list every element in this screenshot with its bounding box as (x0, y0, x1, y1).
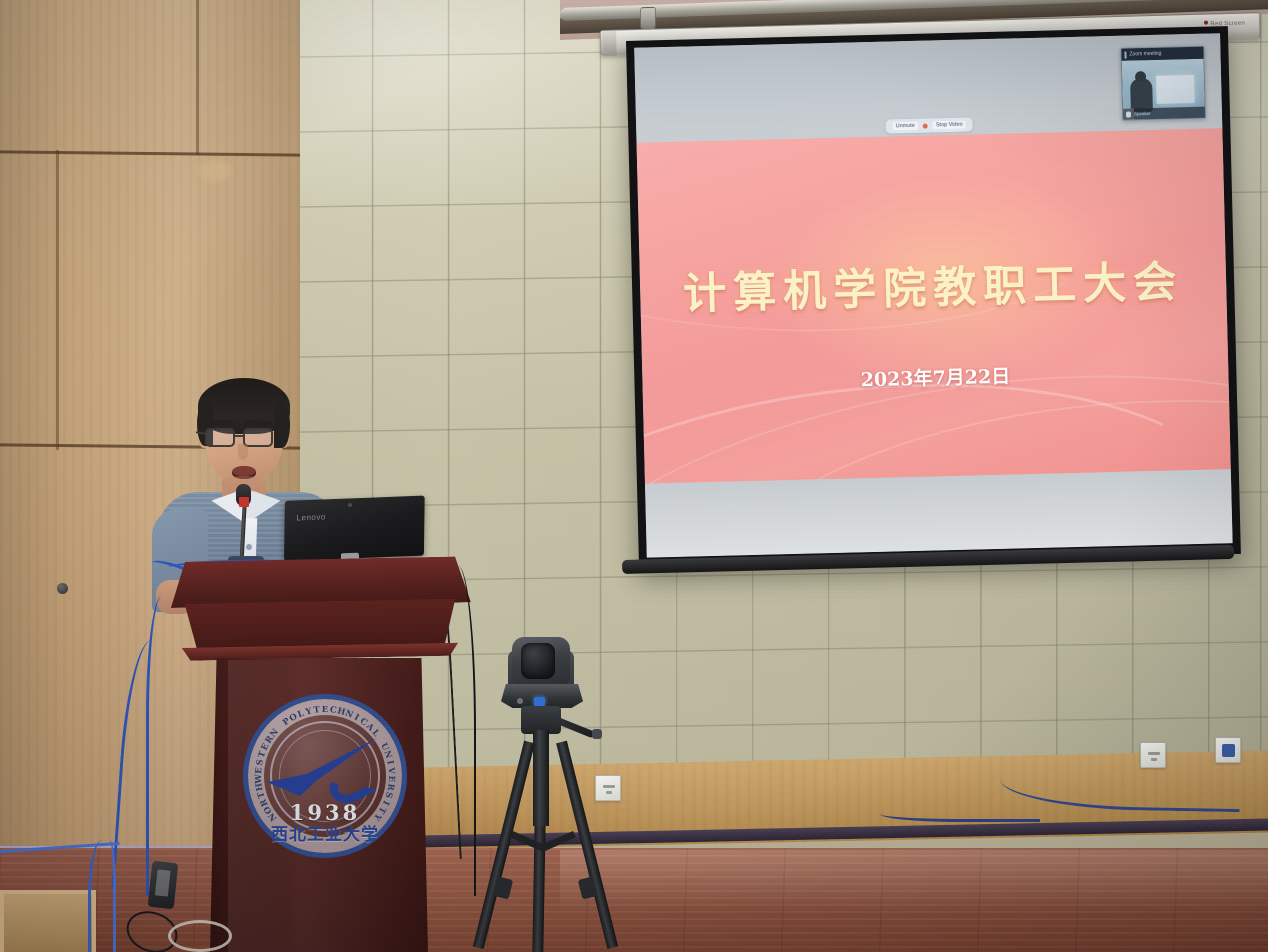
eyeglasses-bridge (235, 435, 243, 437)
tripod-center-column (533, 730, 549, 826)
microphone-logo-flag (239, 497, 249, 507)
slide-letterbox-bottom (645, 469, 1233, 557)
speaker-hair-side (274, 402, 290, 448)
wooden-crate (0, 890, 96, 952)
emblem-arc-letter: I (384, 760, 395, 766)
thumbnail-remote-screen (1156, 75, 1195, 104)
power-cable (440, 566, 476, 896)
zoom-unmute-button[interactable]: Unmute (893, 122, 918, 131)
photograph-scene: Red Screen 计算机学院教职工大会 2023年7月22日 Unmute … (0, 0, 1268, 952)
outlet-slot-icon (606, 791, 612, 794)
university-emblem: NORTHWESTERN POLYTECHNICAL UNIVERSITY 19… (243, 694, 407, 858)
network-cable (880, 806, 1040, 822)
thumbnail-header: Zoom meeting (1121, 47, 1203, 61)
adapter-label (155, 869, 171, 896)
tripod-handle-knob[interactable] (592, 729, 602, 739)
rail-clip (640, 7, 656, 30)
emblem-arc-letter: T (313, 705, 321, 716)
power-adapter-brick (148, 861, 179, 909)
thumbnail-participant-name: Zoom meeting (1129, 51, 1161, 58)
wall-outlet[interactable] (595, 775, 621, 801)
recording-indicator-icon (923, 123, 928, 128)
participant-video-thumbnail[interactable]: Zoom meeting Speaker (1120, 46, 1206, 121)
slide-date: 2023年7月22日 (642, 356, 1228, 398)
zoom-stop-video-button[interactable]: Stop Video (933, 121, 966, 130)
laptop-webcam-icon (348, 503, 352, 507)
camera-button[interactable] (517, 698, 523, 704)
thumbnail-signal-icon (1124, 51, 1126, 58)
emblem-arc-letter: Y (305, 706, 313, 717)
emblem-arc-letter: E (322, 705, 328, 715)
network-wall-plate[interactable] (1215, 737, 1241, 763)
slide-wave-decoration (637, 322, 1231, 484)
speaker-nose (238, 444, 248, 460)
laptop[interactable]: Lenovo (284, 496, 425, 561)
emblem-arc-letter: V (386, 767, 397, 774)
network-plug-icon (1222, 744, 1235, 757)
camera-lens (521, 643, 555, 679)
outlet-slot-icon (1151, 758, 1157, 761)
outlet-slot-icon (1148, 752, 1160, 755)
emblem-arc-letter: W (254, 774, 264, 784)
wood-panel-seam (56, 150, 59, 450)
thumbnail-speaker-label: Speaker (1134, 111, 1151, 116)
shirt-button (246, 544, 252, 550)
zoom-meeting-toolbar[interactable]: Unmute Stop Video (885, 117, 972, 133)
projection-screen-surface: 计算机学院教职工大会 2023年7月22日 Unmute Stop Video (634, 33, 1232, 557)
outlet-slot-icon (603, 785, 615, 788)
emblem-arc-letter: R (385, 783, 396, 792)
emblem-arc-letter: N (381, 749, 393, 760)
thumbnail-footer: Speaker (1123, 107, 1205, 120)
emblem-chinese-name: 西北工业大学 (243, 820, 407, 845)
door-knob[interactable] (57, 583, 68, 594)
emblem-arc-letter: S (383, 791, 394, 800)
brand-dot-icon (1204, 21, 1208, 25)
projected-slide: 计算机学院教职工大会 2023年7月22日 (637, 128, 1231, 483)
slide-title: 计算机学院教职工大会 (639, 246, 1226, 323)
mic-icon (1126, 111, 1131, 117)
laptop-brand-logo: Lenovo (297, 512, 326, 522)
emblem-arc-letter: E (254, 767, 264, 774)
camera-status-led (534, 697, 545, 706)
eyeglasses-lens (205, 428, 235, 447)
emblem-arc-letter: S (255, 759, 266, 767)
projection-screen: 计算机学院教职工大会 2023年7月22日 Unmute Stop Video (626, 26, 1241, 569)
wood-panel-seam (196, 0, 199, 155)
wood-panel-seam (0, 150, 300, 156)
screen-housing-endcap (602, 31, 617, 56)
wall-blemish (198, 160, 232, 182)
emblem-arc-letter: E (386, 775, 396, 782)
coiled-white-cable (168, 920, 232, 952)
